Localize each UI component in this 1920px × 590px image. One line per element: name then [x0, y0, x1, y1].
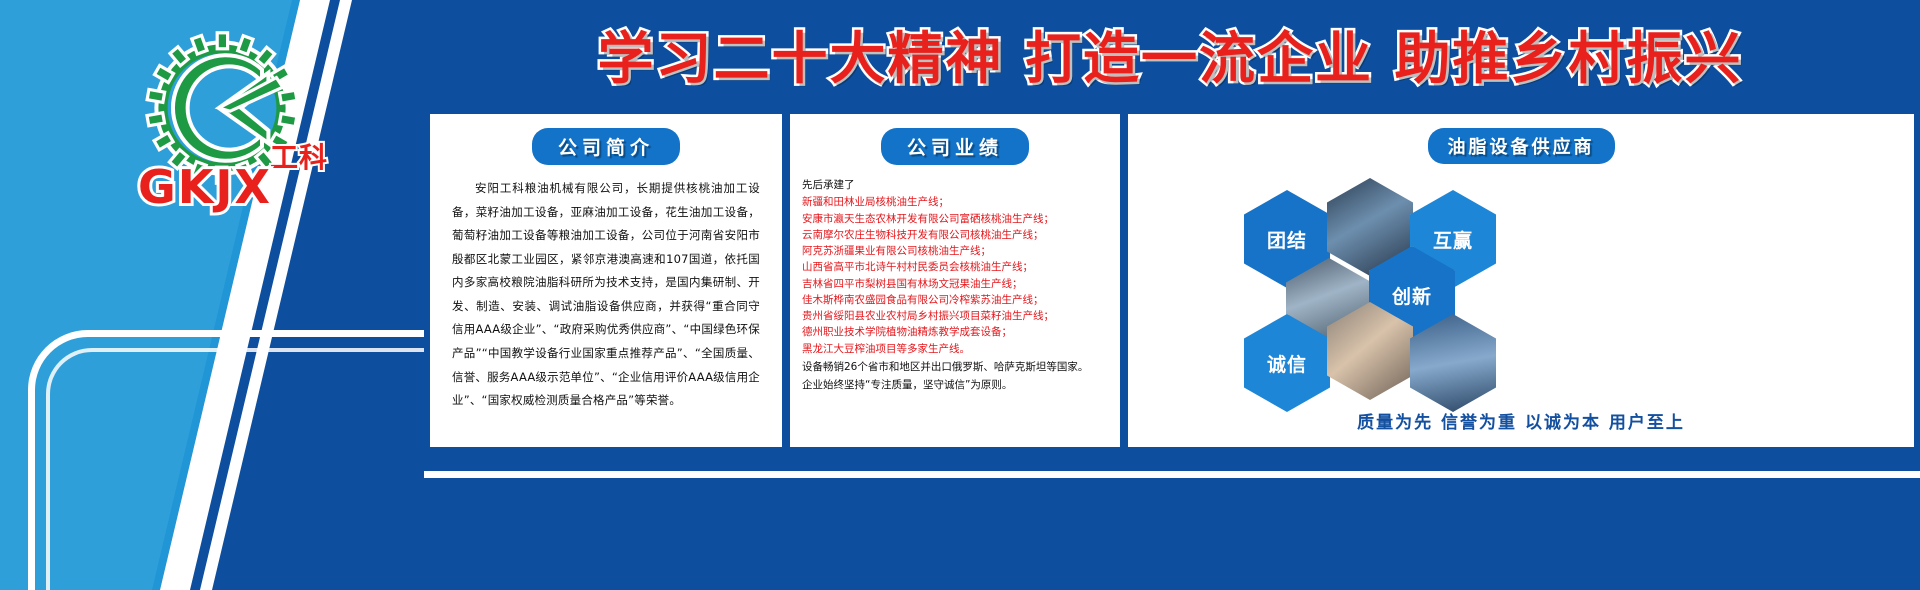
- performance-tail-line: 设备畅销26个省市和地区并出口俄罗斯、哈萨克斯坦等国家。: [802, 359, 1110, 375]
- performance-item: 吉林省四平市梨树县国有林场文冠果油生产线；: [802, 276, 1110, 292]
- performance-item: 德州职业技术学院植物油精炼教学成套设备；: [802, 324, 1110, 340]
- performance-item: 安康市瀛天生态农林开发有限公司富硒核桃油生产线；: [802, 211, 1110, 227]
- panel-company-performance: 公司业绩 先后承建了 新疆和田林业局核桃油生产线；安康市瀛天生态农林开发有限公司…: [790, 114, 1120, 447]
- panel-supplier-heading: 油脂设备供应商: [1428, 128, 1615, 164]
- company-logo: 工科 GKJX: [120, 28, 340, 208]
- board-bottom-white-line: [424, 471, 1920, 478]
- performance-item: 新疆和田林业局核桃油生产线；: [802, 194, 1110, 210]
- performance-item: 云南摩尔农庄生物科技开发有限公司核桃油生产线；: [802, 227, 1110, 243]
- panel-performance-body: 先后承建了 新疆和田林业局核桃油生产线；安康市瀛天生态农林开发有限公司富硒核桃油…: [790, 171, 1120, 393]
- hexagon-cluster: 团结 互赢 创新 诚信: [1128, 170, 1914, 382]
- board-bottom-band: [424, 453, 1920, 471]
- panel-performance-heading: 公司业绩: [881, 128, 1029, 165]
- performance-lead: 先后承建了: [802, 177, 1110, 193]
- performance-tail-line: 企业始终坚持“专注质量，坚守诚信”为原则。: [802, 377, 1110, 393]
- decorative-frame-inner: [46, 348, 466, 590]
- header-banner: 学习二十大精神 打造一流企业 助推乡村振兴: [420, 0, 1920, 108]
- logo-en-text: GKJX: [138, 160, 272, 214]
- performance-item: 贵州省绥阳县农业农村局乡村振兴项目菜籽油生产线；: [802, 308, 1110, 324]
- performance-item: 山西省高平市北诗午村村民委员会核桃油生产线；: [802, 259, 1110, 275]
- panel-intro-heading: 公司简介: [532, 128, 680, 165]
- performance-item: 黑龙江大豆榨油项目等多家生产线。: [802, 341, 1110, 357]
- performance-item: 佳木斯桦南农盛园食品有限公司冷榨紫苏油生产线；: [802, 292, 1110, 308]
- panel-intro-body: 安阳工科粮油机械有限公司，长期提供核桃油加工设备，菜籽油加工设备，亚麻油加工设备…: [430, 171, 782, 413]
- page-title: 学习二十大精神 打造一流企业 助推乡村振兴: [598, 14, 1743, 95]
- panel-company-intro: 公司简介 安阳工科粮油机械有限公司，长期提供核桃油加工设备，菜籽油加工设备，亚麻…: [430, 114, 782, 447]
- logo-cn-text: 工科: [270, 136, 328, 176]
- performance-tail: 设备畅销26个省市和地区并出口俄罗斯、哈萨克斯坦等国家。企业始终坚持“专注质量，…: [802, 359, 1110, 394]
- supplier-slogan: 质量为先 信誉为重 以诚为本 用户至上: [1128, 408, 1914, 433]
- content-board: 公司简介 安阳工科粮油机械有限公司，长期提供核桃油加工设备，菜籽油加工设备，亚麻…: [430, 114, 1914, 447]
- performance-list: 新疆和田林业局核桃油生产线；安康市瀛天生态农林开发有限公司富硒核桃油生产线；云南…: [802, 194, 1110, 357]
- performance-item: 阿克苏浙疆果业有限公司核桃油生产线；: [802, 243, 1110, 259]
- panel-supplier: 油脂设备供应商 团结 互赢 创新 诚信 质量为先 信誉为重 以诚为本 用户至上: [1128, 114, 1914, 447]
